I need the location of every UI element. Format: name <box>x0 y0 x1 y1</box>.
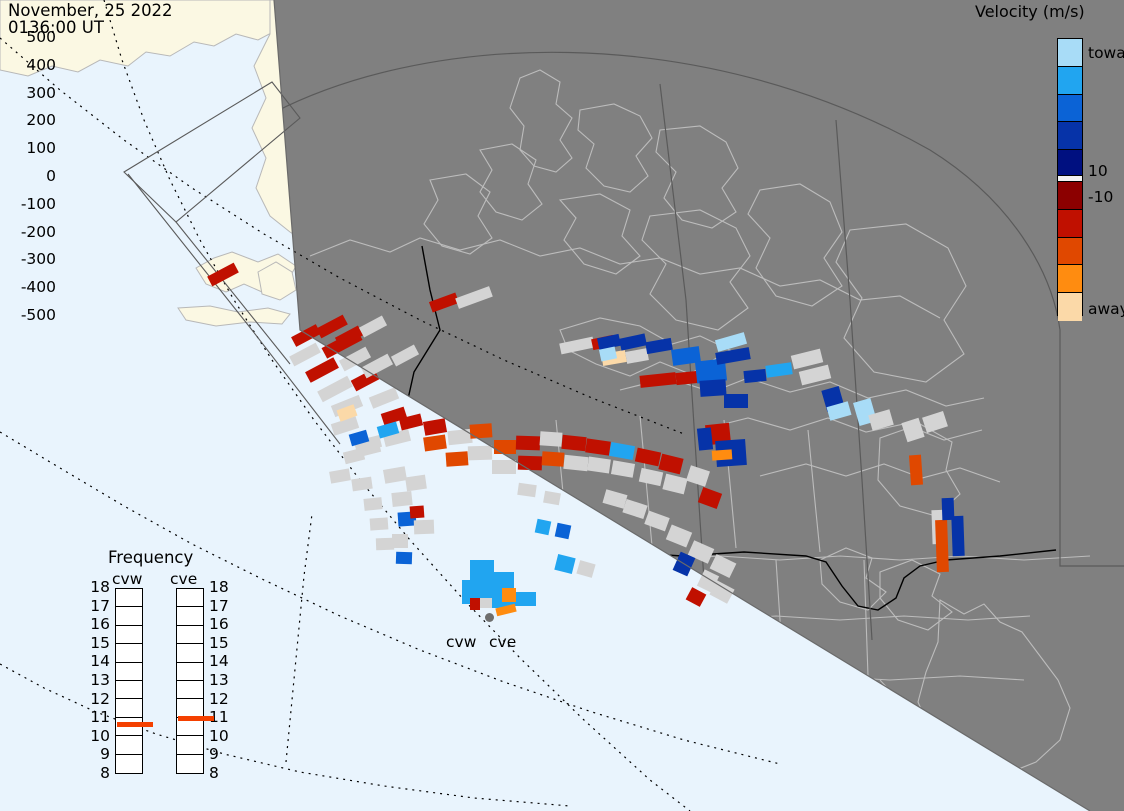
frequency-cell <box>177 699 203 717</box>
frequency-cell <box>177 755 203 773</box>
colorbar-segment <box>1058 67 1082 95</box>
velocity-cell <box>697 427 713 450</box>
colorbar-tick-label: 500 <box>26 28 56 46</box>
frequency-scale-label: 9 <box>84 745 110 763</box>
velocity-cell <box>470 560 494 582</box>
map-canvas <box>0 0 1124 811</box>
frequency-scale-label: 11 <box>84 708 110 726</box>
velocity-cell <box>518 456 542 471</box>
velocity-cell <box>363 497 382 511</box>
frequency-bar-cve <box>176 588 204 774</box>
frequency-cell <box>177 607 203 625</box>
velocity-cell <box>909 455 923 486</box>
colorbar-segment <box>1058 122 1082 150</box>
colorbar-title: Velocity (m/s) <box>975 2 1085 21</box>
velocity-cell <box>951 516 964 556</box>
colorbar-segment <box>1058 182 1082 210</box>
frequency-cell <box>177 626 203 644</box>
velocity-colorbar <box>1057 38 1083 316</box>
frequency-scale-label: 13 <box>209 671 235 689</box>
frequency-scale-label: 14 <box>84 652 110 670</box>
radar-site-label-cve: cve <box>489 633 516 651</box>
frequency-scale-label: 8 <box>209 764 235 782</box>
velocity-cell <box>391 491 412 507</box>
frequency-scale-label: 17 <box>84 597 110 615</box>
velocity-cell <box>517 483 536 497</box>
frequency-scale-label: 17 <box>209 597 235 615</box>
colorbar-tick-label: -300 <box>21 250 56 268</box>
frequency-bar-cvw <box>115 588 143 774</box>
frequency-cell <box>116 663 142 681</box>
velocity-cell <box>555 523 572 540</box>
velocity-cell <box>494 440 516 454</box>
frequency-bar-header-cvw: cvw <box>112 570 142 588</box>
frequency-scale-label: 13 <box>84 671 110 689</box>
frequency-cell <box>116 755 142 773</box>
velocity-cell <box>447 429 472 445</box>
colorbar-segment <box>1058 238 1082 266</box>
frequency-cell <box>116 718 142 736</box>
frequency-cell <box>116 626 142 644</box>
superdarn-velocity-map: November, 25 2022 0136:00 UT Velocity (m… <box>0 0 1124 811</box>
frequency-legend-title: Frequency <box>108 548 193 567</box>
frequency-cell <box>116 589 142 607</box>
frequency-scale-label: 15 <box>209 634 235 652</box>
frequency-scale-label: 10 <box>84 727 110 745</box>
velocity-cell <box>376 538 394 551</box>
colorbar-segment <box>1058 95 1082 123</box>
colorbar-toward-label: toward <box>1088 44 1124 62</box>
velocity-cell <box>540 431 563 447</box>
velocity-cell <box>468 446 492 461</box>
velocity-cell <box>563 455 588 471</box>
velocity-cell <box>699 379 726 397</box>
velocity-cell <box>392 534 408 548</box>
colorbar-tick-label: -500 <box>21 306 56 324</box>
velocity-cell <box>942 498 955 520</box>
frequency-bar-header-cve: cve <box>170 570 197 588</box>
frequency-cell <box>116 607 142 625</box>
colorbar-segment <box>1058 150 1082 178</box>
frequency-marker-cvw <box>117 722 153 727</box>
frequency-cell <box>116 681 142 699</box>
frequency-cell <box>116 736 142 754</box>
frequency-cell <box>116 699 142 717</box>
colorbar-tick-label: -400 <box>21 278 56 296</box>
velocity-cell <box>470 423 493 439</box>
frequency-cell <box>177 681 203 699</box>
frequency-scale-label: 12 <box>209 690 235 708</box>
colorbar-tick-label: -100 <box>21 195 56 213</box>
radar-site-label-cvw: cvw <box>446 633 476 651</box>
velocity-cell <box>370 517 389 530</box>
colorbar-tick-label: -200 <box>21 223 56 241</box>
frequency-scale-label: 18 <box>84 578 110 596</box>
velocity-cell <box>478 598 492 608</box>
velocity-cell <box>743 369 766 383</box>
frequency-scale-label: 12 <box>84 690 110 708</box>
frequency-scale-label: 9 <box>209 745 235 763</box>
velocity-cell <box>712 449 733 460</box>
velocity-cell <box>724 394 748 408</box>
velocity-cell <box>516 436 540 451</box>
velocity-cell <box>502 588 516 602</box>
colorbar-segment <box>1058 265 1082 293</box>
velocity-cell <box>396 552 412 565</box>
velocity-cell <box>470 598 480 610</box>
frequency-scale-label: 8 <box>84 764 110 782</box>
colorbar-away-label: away <box>1088 300 1124 318</box>
colorbar-tick-label: 0 <box>46 167 56 185</box>
velocity-cell <box>535 519 552 536</box>
radar-site-marker <box>485 613 494 622</box>
frequency-cell <box>177 644 203 662</box>
colorbar-tick-label: 300 <box>26 84 56 102</box>
velocity-cell <box>935 520 949 572</box>
frequency-cell <box>177 736 203 754</box>
frequency-scale-label: 15 <box>84 634 110 652</box>
colorbar-zero-lower-label: -10 <box>1088 188 1113 206</box>
velocity-cell <box>414 520 434 535</box>
colorbar-segment <box>1058 293 1082 321</box>
colorbar-segment <box>1058 39 1082 67</box>
frequency-cell <box>116 644 142 662</box>
frequency-cell <box>177 589 203 607</box>
velocity-cell <box>561 435 586 451</box>
frequency-scale-label: 14 <box>209 652 235 670</box>
frequency-scale-label: 16 <box>209 615 235 633</box>
frequency-scale-label: 16 <box>84 615 110 633</box>
colorbar-tick-label: 100 <box>26 139 56 157</box>
colorbar-zero-band <box>1058 175 1082 182</box>
frequency-cell <box>177 663 203 681</box>
velocity-cell <box>542 451 565 467</box>
colorbar-tick-label: 400 <box>26 56 56 74</box>
velocity-cell <box>410 506 425 519</box>
frequency-marker-cve <box>178 716 214 721</box>
velocity-cell <box>405 475 427 492</box>
frequency-scale-label: 10 <box>209 727 235 745</box>
colorbar-zero-upper-label: 10 <box>1088 162 1108 180</box>
frequency-scale-label: 18 <box>209 578 235 596</box>
colorbar-tick-label: 200 <box>26 111 56 129</box>
colorbar-segment <box>1058 210 1082 238</box>
velocity-cell <box>675 371 698 385</box>
velocity-cell <box>446 451 469 467</box>
velocity-cell <box>492 460 516 474</box>
